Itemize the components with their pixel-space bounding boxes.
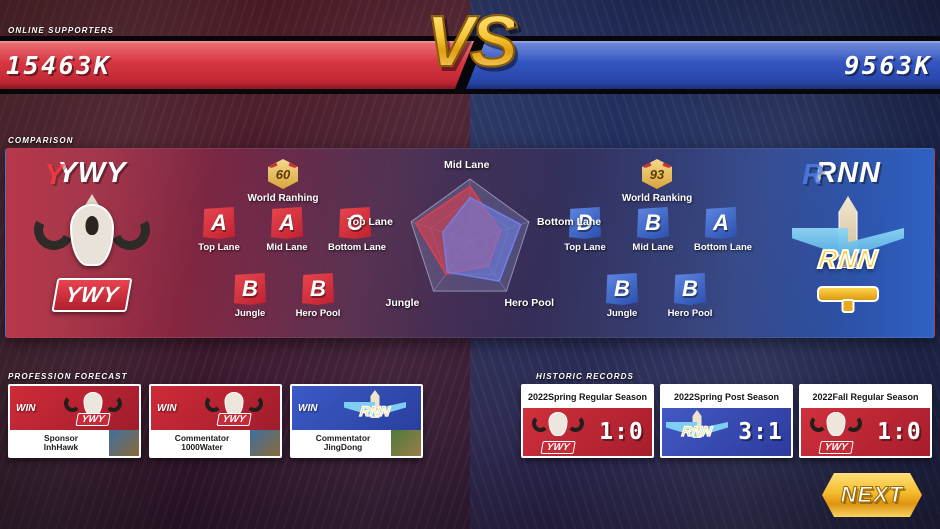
ranking-badge-left-icon: 60 <box>268 159 298 189</box>
grade-chip-icon: B <box>637 207 669 239</box>
forecast-card-banner: WIN YWY <box>151 386 280 430</box>
grade-value: B <box>645 212 661 234</box>
forecast-team-mark-text: YWY <box>75 413 110 426</box>
ram-skull-icon: YWY <box>525 410 591 454</box>
sword-hilt-icon <box>842 299 855 313</box>
team-left-logo: YWY <box>28 192 156 314</box>
ram-horn-left-icon <box>810 415 827 432</box>
forecast-card-footer: CommentatorJingDong <box>292 430 421 456</box>
grade-label: Top Lane <box>192 242 246 253</box>
comparison-panel: YWY YWY RNN RNN <box>5 148 935 338</box>
forecast-card[interactable]: WIN RNN CommentatorJingDong <box>290 384 423 458</box>
team-left[interactable]: YWY YWY <box>5 153 182 335</box>
record-team-logo: RNN <box>664 410 730 454</box>
team-right-logo-text: RNN <box>816 244 879 275</box>
ram-horn-right-icon <box>246 395 263 412</box>
ram-horn-right-icon <box>105 395 122 412</box>
grade-value: B <box>310 278 326 300</box>
forecast-team-logo: YWY <box>198 390 270 426</box>
ranking-value-left: 60 <box>276 167 290 182</box>
team-left-tag: YWY <box>57 159 126 188</box>
supporters-bar-right: 9563K <box>466 41 940 89</box>
forecast-person: SponsorInhHawk <box>10 434 109 453</box>
grade-value: A <box>713 212 729 234</box>
team-right[interactable]: RNN RNN <box>758 153 935 335</box>
forecast-team-mark-text: RNN <box>359 403 391 419</box>
grade-chip-icon: B <box>234 273 266 305</box>
forecast-result-badge: WIN <box>16 403 35 414</box>
record-team-mark-text: YWY <box>818 441 853 454</box>
world-ranking-right: 93 World Ranking <box>602 159 712 204</box>
ranking-label-left: World Ranhing <box>228 193 338 204</box>
grade-item: B Mid Lane <box>626 207 680 253</box>
radar-chart: Mid Lane Bottom Lane Hero Pool Jungle To… <box>355 155 585 333</box>
grade-label: Jungle <box>595 308 649 319</box>
ram-horn-left-icon <box>205 395 222 412</box>
grade-label: Bottom Lane <box>694 242 748 253</box>
record-title: 2022Fall Regular Season <box>801 386 930 408</box>
avatar <box>250 430 280 456</box>
ram-horn-right-icon <box>845 415 862 432</box>
grade-item: A Top Lane <box>192 207 246 253</box>
ram-skull-shape <box>827 412 846 436</box>
record-title: 2022Spring Post Season <box>662 386 791 408</box>
forecast-card-banner: WIN YWY <box>10 386 139 430</box>
ram-skull-shape <box>549 412 568 436</box>
ram-horn-left-icon <box>64 395 81 412</box>
avatar <box>109 430 139 456</box>
grade-value: B <box>682 278 698 300</box>
ram-skull-shape <box>70 204 114 266</box>
grade-chip-icon: A <box>203 207 235 239</box>
record-body: YWY 1:0 <box>523 408 652 456</box>
forecast-team-mark-text: YWY <box>216 413 251 426</box>
radar-label-mid-lane: Mid Lane <box>444 159 490 171</box>
supporters-bar-left: 15463K <box>0 41 474 89</box>
record-card[interactable]: 2022Fall Regular Season YWY 1:0 <box>799 384 932 458</box>
vs-matchup-screen: ONLINE SUPPORTERS 15463K 9563K VS COMPAR… <box>0 0 940 529</box>
grades-left-top: A Top Lane A Mid Lane C Bottom Lane <box>192 207 382 253</box>
ram-skull-icon: YWY <box>803 410 869 454</box>
forecast-team-logo: YWY <box>57 390 129 426</box>
forecast-person: Commentator1000Water <box>151 434 250 453</box>
grade-value: B <box>242 278 258 300</box>
next-button-label: NEXT <box>841 482 904 508</box>
forecast-card-footer: SponsorInhHawk <box>10 430 139 456</box>
record-team-mark-text: RNN <box>681 423 713 439</box>
record-body: RNN 3:1 <box>662 408 791 456</box>
grade-label: Mid Lane <box>260 242 314 253</box>
historic-records-label: HISTORIC RECORDS <box>536 372 634 381</box>
forecast-card[interactable]: WIN YWY SponsorInhHawk <box>8 384 141 458</box>
sword-icon: RNN <box>339 390 411 426</box>
forecast-result-badge: WIN <box>157 403 176 414</box>
grade-label: Hero Pool <box>663 308 717 319</box>
grades-right-bottom: B Jungle B Hero Pool <box>595 273 717 319</box>
grade-chip-icon: A <box>271 207 303 239</box>
record-card[interactable]: 2022Spring Post Season RNN 3:1 <box>660 384 793 458</box>
grade-value: A <box>211 212 227 234</box>
record-team-logo: YWY <box>803 410 869 454</box>
record-team-mark-text: YWY <box>540 441 575 454</box>
ranking-label-right: World Ranking <box>602 193 712 204</box>
ranking-badge-right-icon: 93 <box>642 159 672 189</box>
radar-label-jungle: Jungle <box>386 297 420 309</box>
online-supporters-label: ONLINE SUPPORTERS <box>8 26 114 35</box>
next-button[interactable]: NEXT <box>822 473 922 517</box>
ranking-value-right: 93 <box>650 167 664 182</box>
grade-item: A Mid Lane <box>260 207 314 253</box>
grade-chip-icon: A <box>705 207 737 239</box>
profession-forecast-label: PROFESSION FORECAST <box>8 372 128 381</box>
ram-horn-left-icon <box>532 415 549 432</box>
grades-right-top: D Top Lane B Mid Lane A Bottom Lane <box>558 207 748 253</box>
grade-item: B Jungle <box>223 273 277 319</box>
forecast-card[interactable]: WIN YWY Commentator1000Water <box>149 384 282 458</box>
team-left-logo-text: YWY <box>51 278 132 312</box>
supporters-count-left: 15463K <box>6 51 111 80</box>
grade-item: B Jungle <box>595 273 649 319</box>
grade-label: Mid Lane <box>626 242 680 253</box>
grade-label: Jungle <box>223 308 277 319</box>
record-body: YWY 1:0 <box>801 408 930 456</box>
avatar <box>391 430 421 456</box>
forecast-result-badge: WIN <box>298 403 317 414</box>
forecast-card-footer: Commentator1000Water <box>151 430 280 456</box>
grade-item: A Bottom Lane <box>694 207 748 253</box>
sword-icon: RNN <box>784 192 912 314</box>
forecast-person: CommentatorJingDong <box>292 434 391 453</box>
comparison-label: COMPARISON <box>8 136 74 145</box>
grade-value: A <box>279 212 295 234</box>
radar-label-top-lane: Top Lane <box>347 216 393 228</box>
grade-value: B <box>614 278 630 300</box>
grade-chip-icon: B <box>302 273 334 305</box>
team-right-logo: RNN <box>784 192 912 314</box>
supporters-count-right: 9563K <box>844 51 932 80</box>
record-card[interactable]: 2022Spring Regular Season YWY 1:0 <box>521 384 654 458</box>
vs-logo: VS <box>426 6 514 78</box>
forecast-card-list: WIN YWY SponsorInhHawk WIN YWY <box>8 384 423 458</box>
ram-skull-icon: YWY <box>57 390 129 426</box>
forecast-card-banner: WIN RNN <box>292 386 421 430</box>
record-score: 1:0 <box>869 419 930 445</box>
sword-icon: RNN <box>664 410 730 454</box>
grade-chip-icon: B <box>606 273 638 305</box>
ram-skull-icon: YWY <box>198 390 270 426</box>
forecast-team-logo: RNN <box>339 390 411 426</box>
radar-label-hero-pool: Hero Pool <box>504 297 554 309</box>
grade-label: Hero Pool <box>291 308 345 319</box>
team-right-tag: RNN <box>815 159 881 188</box>
grade-item: B Hero Pool <box>663 273 717 319</box>
grades-left-bottom: B Jungle B Hero Pool <box>223 273 345 319</box>
records-card-list: 2022Spring Regular Season YWY 1:0 2022Sp… <box>521 384 932 458</box>
grade-item: B Hero Pool <box>291 273 345 319</box>
world-ranking-left: 60 World Ranhing <box>228 159 338 204</box>
record-score: 1:0 <box>591 419 652 445</box>
radar-label-bottom-lane: Bottom Lane <box>537 216 601 228</box>
record-title: 2022Spring Regular Season <box>523 386 652 408</box>
record-team-logo: YWY <box>525 410 591 454</box>
ram-horn-right-icon <box>567 415 584 432</box>
record-score: 3:1 <box>730 419 791 445</box>
grade-chip-icon: B <box>674 273 706 305</box>
ram-skull-icon: YWY <box>28 192 156 314</box>
